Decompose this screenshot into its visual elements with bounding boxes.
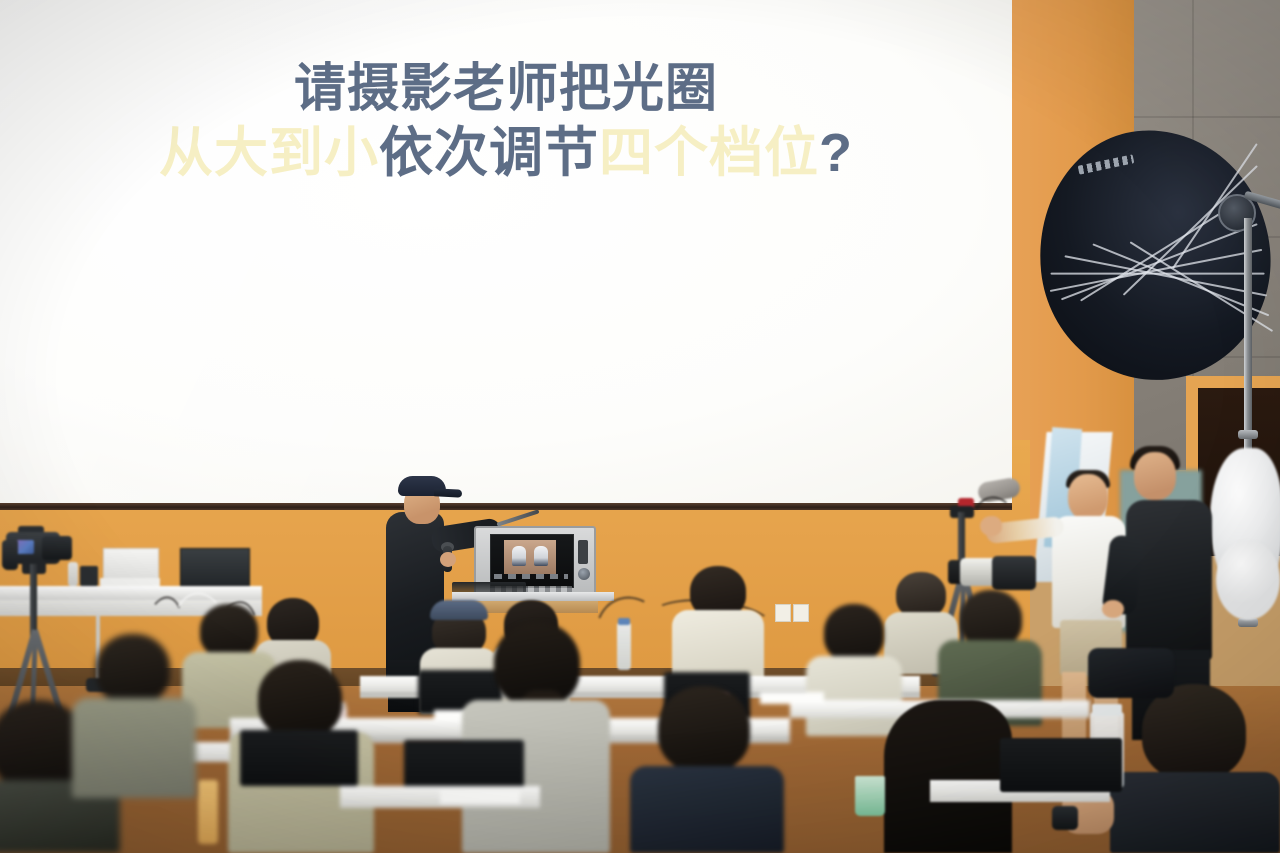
audience-torso	[630, 766, 784, 853]
audience-cap	[430, 600, 488, 620]
bottle-cap	[1092, 704, 1122, 716]
screenshot-root: 请摄影老师把光圈 从大到小依次调节四个档位?	[0, 0, 1280, 853]
slide-line-2-highlight-b: 四个档位	[599, 123, 819, 183]
slide-line-2-dark: 依次调节	[379, 123, 599, 183]
monitor-subject-right	[534, 546, 548, 566]
monitor-side-controls	[578, 540, 588, 564]
audience-head	[96, 634, 170, 704]
small-bottle	[68, 562, 78, 586]
operator-head	[1134, 452, 1176, 500]
audience-torso	[72, 698, 196, 798]
projection-screen-bottom-edge	[0, 503, 1012, 510]
operator-hand	[1102, 600, 1124, 618]
slide-text-block: 请摄影老师把光圈 从大到小依次调节四个档位?	[0, 58, 1012, 187]
black-equipment-box	[80, 566, 98, 586]
audience-head	[258, 660, 342, 738]
slide-line-2: 从大到小依次调节四个档位?	[0, 121, 1012, 187]
green-cup	[855, 776, 885, 816]
wristwatch	[1052, 806, 1078, 830]
audience-head	[200, 604, 258, 658]
monitor-osd-readout	[494, 574, 568, 579]
camera-lens	[42, 536, 72, 560]
audience-head	[824, 604, 884, 662]
bottle-cap	[618, 618, 630, 625]
paper-sheet	[760, 692, 824, 704]
foreground-long-hair	[884, 700, 1012, 853]
laptop-base	[100, 578, 160, 586]
slide-line-2-highlight-a: 从大到小	[159, 123, 379, 183]
audience-torso	[1110, 772, 1280, 853]
paper-sheet	[440, 790, 520, 804]
camera-grip	[2, 540, 18, 570]
presenter-cap-brim	[434, 488, 462, 497]
slide-line-2-question-mark: ?	[819, 123, 853, 183]
tripod-center-column	[30, 564, 37, 636]
presenter-hand-holding-mic	[440, 552, 456, 567]
operator-head	[1068, 474, 1108, 520]
slide-line-1: 请摄影老师把光圈	[0, 58, 1012, 121]
wall-seam	[1130, 116, 1280, 118]
control-monitor	[180, 548, 250, 586]
chair-back	[1000, 738, 1122, 792]
bag-on-table	[1088, 648, 1174, 698]
water-bottle	[617, 622, 631, 670]
operator-hand	[980, 516, 1002, 536]
monitor-subject-left	[512, 546, 526, 566]
laptop-lid	[103, 548, 159, 582]
wall-outlet	[793, 604, 809, 622]
monitor-dial	[578, 568, 590, 580]
white-reflector-lower	[1216, 540, 1280, 620]
chair-back	[240, 730, 358, 786]
audience-head	[1142, 684, 1246, 780]
audience-head	[658, 686, 750, 772]
light-stand-knob	[1238, 430, 1258, 439]
water-bottle	[198, 780, 218, 844]
wall-outlet	[775, 604, 791, 622]
